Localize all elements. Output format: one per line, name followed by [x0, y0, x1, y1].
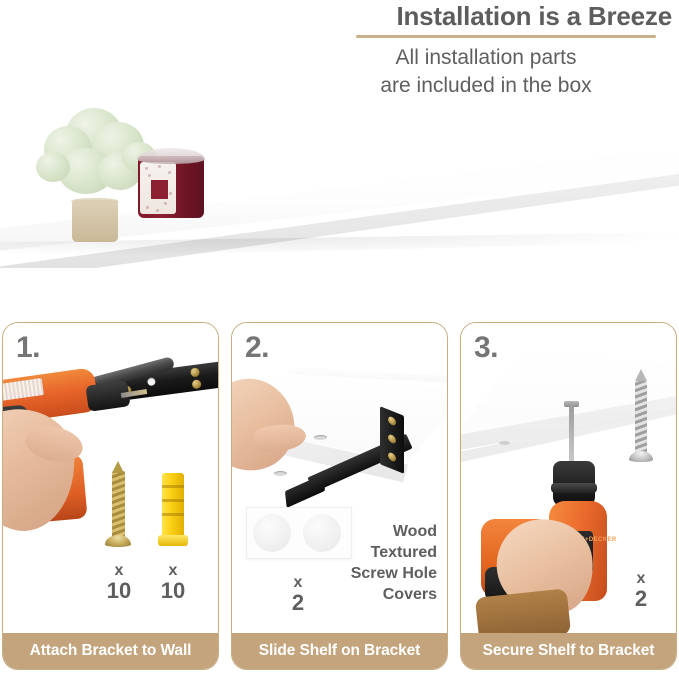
- subtitle-line-2: are included in the box: [300, 72, 672, 100]
- part-count-silver-screw: x 2: [619, 569, 663, 609]
- part-count-gold-screw: x 10: [97, 561, 141, 601]
- page-title: Installation is a Breeze: [396, 1, 672, 32]
- step-number-1: 1.: [16, 331, 40, 365]
- step-number-2: 2.: [245, 331, 269, 365]
- drill-chuck-ring: [551, 483, 597, 493]
- step-caption-2: Slide Shelf on Bracket: [232, 633, 447, 669]
- hero-product-image: [0, 100, 679, 312]
- step-caption-1: Attach Bracket to Wall: [3, 633, 218, 669]
- shelf-screw-hole: [314, 435, 327, 440]
- step-panel-2: 2. Wood Textured Screw Hol: [231, 322, 448, 670]
- decor-candle: [138, 148, 204, 226]
- part-count-screw-hole-covers: x 2: [276, 573, 320, 613]
- candle-lid: [137, 148, 205, 164]
- step-panel-1: 1.: [2, 322, 219, 670]
- part-label-screw-hole-covers: Wood Textured Screw Hole Covers: [319, 521, 437, 605]
- shelf-screw-hole: [499, 441, 510, 445]
- step-panel-3: 3. BLACK+DECKER x 2: [460, 322, 677, 670]
- plant-pot: [72, 200, 118, 242]
- bracket-wall-plate: [380, 406, 404, 474]
- part-count-wall-anchor: x 10: [151, 561, 195, 601]
- candle-label: [140, 162, 176, 214]
- installation-steps: 1.: [0, 322, 679, 676]
- step-caption-3: Secure Shelf to Bracket: [461, 633, 676, 669]
- subtitle-line-1: All installation parts: [300, 44, 672, 72]
- page-subtitle: All installation parts are included in t…: [300, 44, 672, 100]
- header: Installation is a Breeze All installatio…: [0, 0, 679, 108]
- step-number-3: 3.: [474, 331, 498, 365]
- shelf-screw-hole: [274, 471, 287, 476]
- driven-screw: [569, 405, 574, 463]
- bracket-foot: [285, 474, 325, 508]
- title-divider: [356, 35, 656, 38]
